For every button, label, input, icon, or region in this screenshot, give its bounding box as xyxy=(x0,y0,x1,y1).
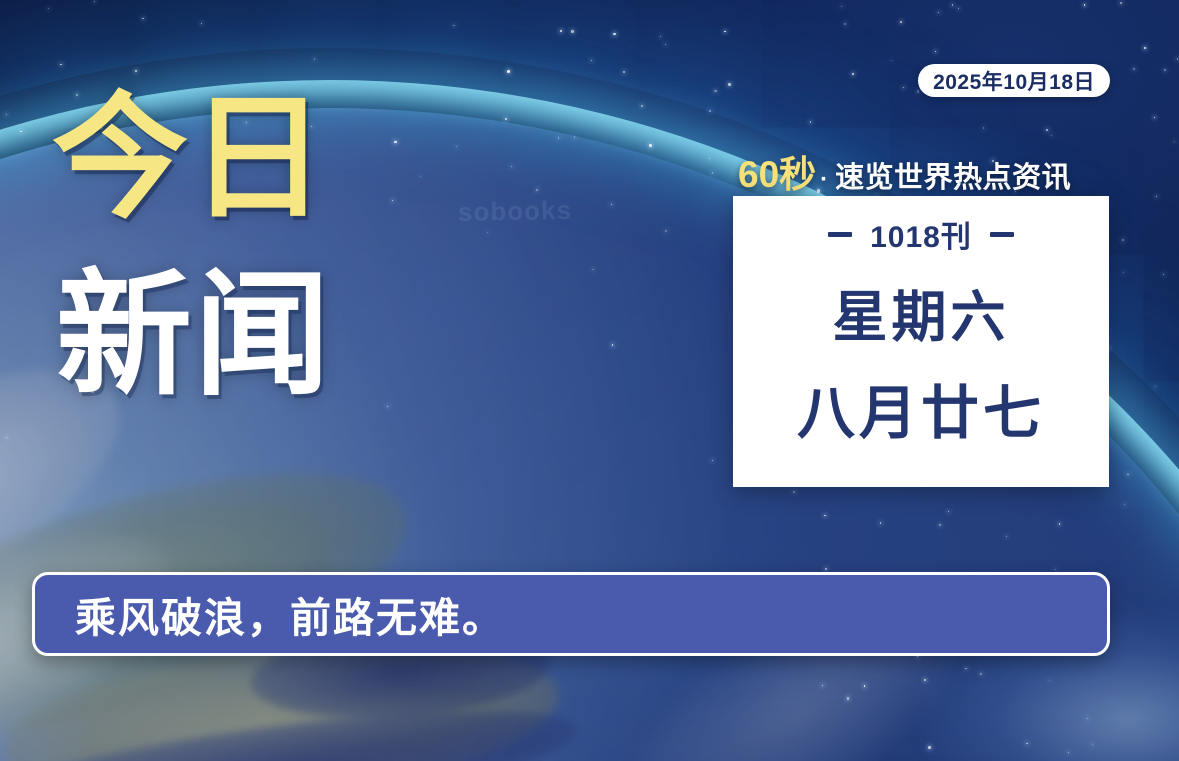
news-poster: 今日 新闻 sobooks 2025年10月18日 60秒 · 速览世界热点资讯… xyxy=(0,0,1179,761)
page-title: 今日 新闻 xyxy=(52,96,332,398)
tagline-duration: 60秒 xyxy=(738,144,816,198)
date-badge: 2025年10月18日 xyxy=(918,64,1110,97)
tagline: 60秒 · 速览世界热点资讯 xyxy=(738,144,1071,198)
watermark-text: sobooks xyxy=(458,195,572,228)
tagline-separator: · xyxy=(820,166,828,194)
calendar-card: 1018刊 星期六 八月廿七 xyxy=(733,196,1109,487)
title-line-today: 今日 xyxy=(52,96,332,221)
quote-text: 乘风破浪，前路无难。 xyxy=(75,584,505,644)
lunar-date-label: 八月廿七 xyxy=(797,366,1045,450)
weekday-label: 星期六 xyxy=(832,272,1009,352)
title-line-news: 新闻 xyxy=(56,273,332,398)
issue-number-label: 1018刊 xyxy=(870,212,972,256)
tagline-text: 速览世界热点资讯 xyxy=(835,154,1071,196)
dash-right-icon xyxy=(990,232,1014,237)
issue-row: 1018刊 xyxy=(828,212,1014,256)
dash-left-icon xyxy=(828,232,852,237)
quote-bar: 乘风破浪，前路无难。 xyxy=(32,572,1110,656)
date-badge-label: 2025年10月18日 xyxy=(933,66,1095,96)
